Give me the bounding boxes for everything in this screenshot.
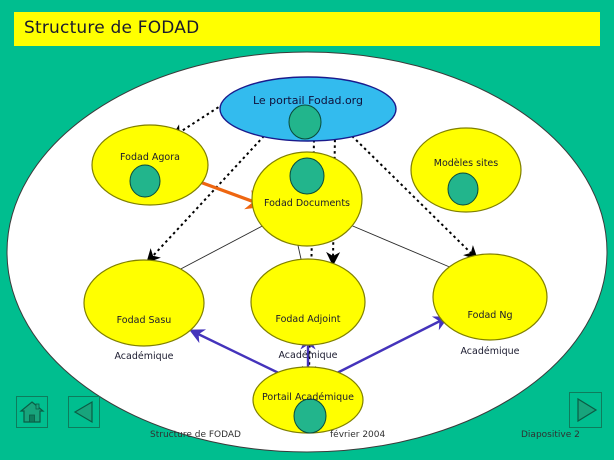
node-modeles-sites[interactable] — [411, 128, 521, 212]
inner-circle-icon — [130, 165, 160, 197]
node-portal-fodad-org[interactable] — [220, 77, 396, 141]
home-button[interactable] — [16, 396, 48, 428]
node-portail-academique[interactable] — [253, 367, 363, 433]
previous-slide-button[interactable] — [68, 396, 100, 428]
footer-date-text: février 2004 — [330, 430, 385, 440]
node-agora[interactable] — [92, 125, 208, 205]
node-ng[interactable] — [433, 254, 547, 340]
slide-canvas: Structure de FODAD — [0, 0, 614, 460]
footer-left-text: Structure de FODAD — [150, 430, 241, 440]
node-adjoint[interactable] — [251, 259, 365, 345]
triangle-right-icon — [570, 393, 601, 427]
diagram — [0, 0, 614, 460]
inner-circle-icon — [448, 173, 478, 205]
inner-circle-icon — [294, 399, 326, 433]
node-documents[interactable] — [252, 152, 362, 246]
inner-circle-icon — [290, 158, 324, 194]
footer-slide-number: Diapositive 2 — [521, 430, 580, 440]
triangle-left-icon — [69, 397, 99, 427]
inner-circle-icon — [289, 105, 321, 139]
home-icon — [17, 397, 47, 427]
node-sasu[interactable] — [84, 260, 204, 346]
next-slide-button[interactable] — [569, 392, 602, 428]
